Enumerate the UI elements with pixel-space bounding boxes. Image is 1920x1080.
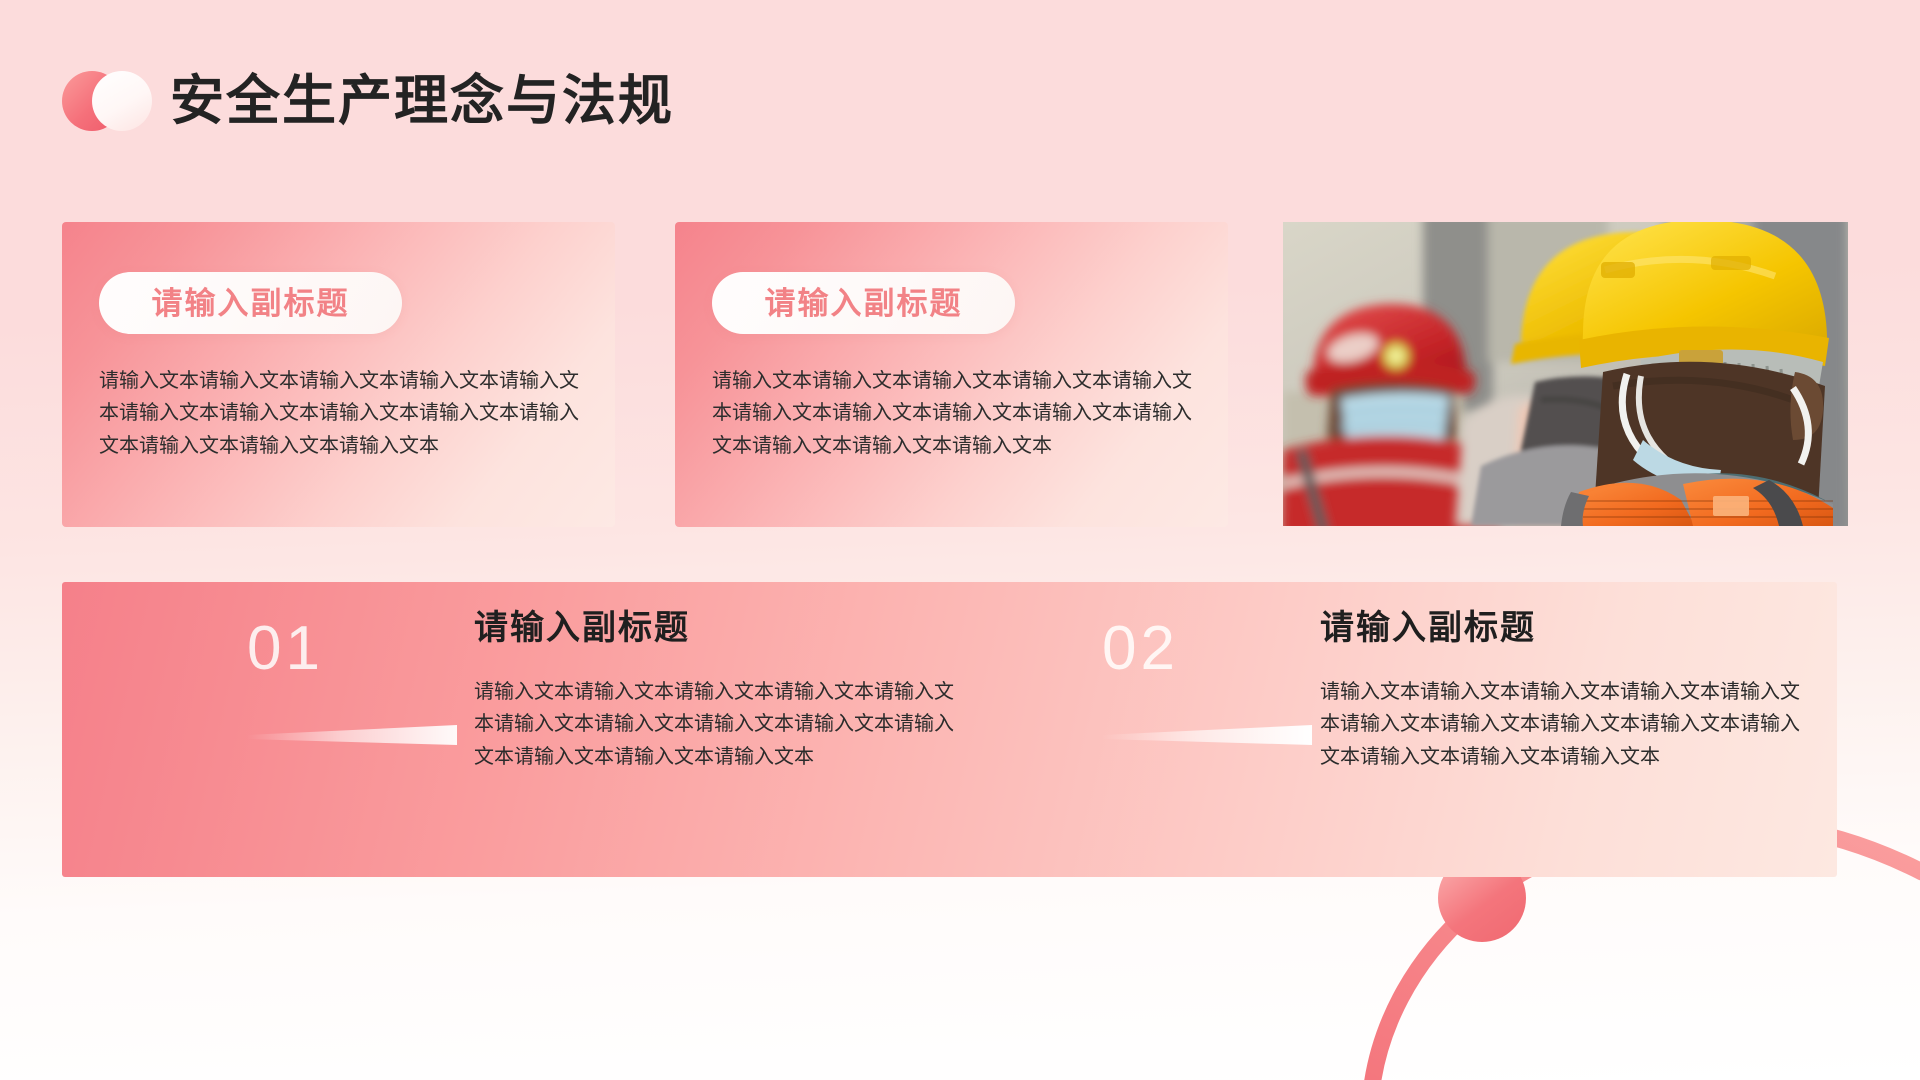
item-2-wedge-icon xyxy=(1102,723,1312,745)
info-card-2-subtitle: 请输入副标题 xyxy=(765,288,963,319)
info-card-1-body: 请输入文本请输入文本请输入文本请输入文本请输入文本请输入文本请输入文本请输入文本… xyxy=(99,364,579,461)
item-1-wedge-icon xyxy=(247,723,457,745)
info-card-1: 请输入副标题 请输入文本请输入文本请输入文本请输入文本请输入文本请输入文本请输入… xyxy=(62,222,615,527)
item-2-text-block: 请输入副标题 请输入文本请输入文本请输入文本请输入文本请输入文本请输入文本请输入… xyxy=(1320,608,1800,772)
numbered-items-banner: 01 请输入副标题 请输入文本请输入文本请输入文本请输入文本请输入文本请输入文本… xyxy=(62,582,1837,877)
info-card-2-pill: 请输入副标题 xyxy=(712,272,1015,334)
logo-mark xyxy=(62,68,162,134)
item-1-body: 请输入文本请输入文本请输入文本请输入文本请输入文本请输入文本请输入文本请输入文本… xyxy=(474,675,954,772)
slide-header: 安全生产理念与法规 xyxy=(62,58,674,144)
info-card-2: 请输入副标题 请输入文本请输入文本请输入文本请输入文本请输入文本请输入文本请输入… xyxy=(675,222,1228,527)
item-2-title: 请输入副标题 xyxy=(1320,608,1800,649)
workers-photo xyxy=(1283,222,1848,526)
info-card-1-subtitle: 请输入副标题 xyxy=(152,288,350,319)
page-title: 安全生产理念与法规 xyxy=(170,74,674,128)
slide-canvas: 安全生产理念与法规 请输入副标题 请输入文本请输入文本请输入文本请输入文本请输入… xyxy=(0,0,1920,1080)
item-1-title: 请输入副标题 xyxy=(474,608,954,649)
info-card-1-pill: 请输入副标题 xyxy=(99,272,402,334)
info-card-2-body: 请输入文本请输入文本请输入文本请输入文本请输入文本请输入文本请输入文本请输入文本… xyxy=(712,364,1192,461)
workers-photo-illustration xyxy=(1283,222,1848,526)
item-2-body: 请输入文本请输入文本请输入文本请输入文本请输入文本请输入文本请输入文本请输入文本… xyxy=(1320,675,1800,772)
logo-front-circle-icon xyxy=(92,71,152,131)
item-1-text-block: 请输入副标题 请输入文本请输入文本请输入文本请输入文本请输入文本请输入文本请输入… xyxy=(474,608,954,772)
